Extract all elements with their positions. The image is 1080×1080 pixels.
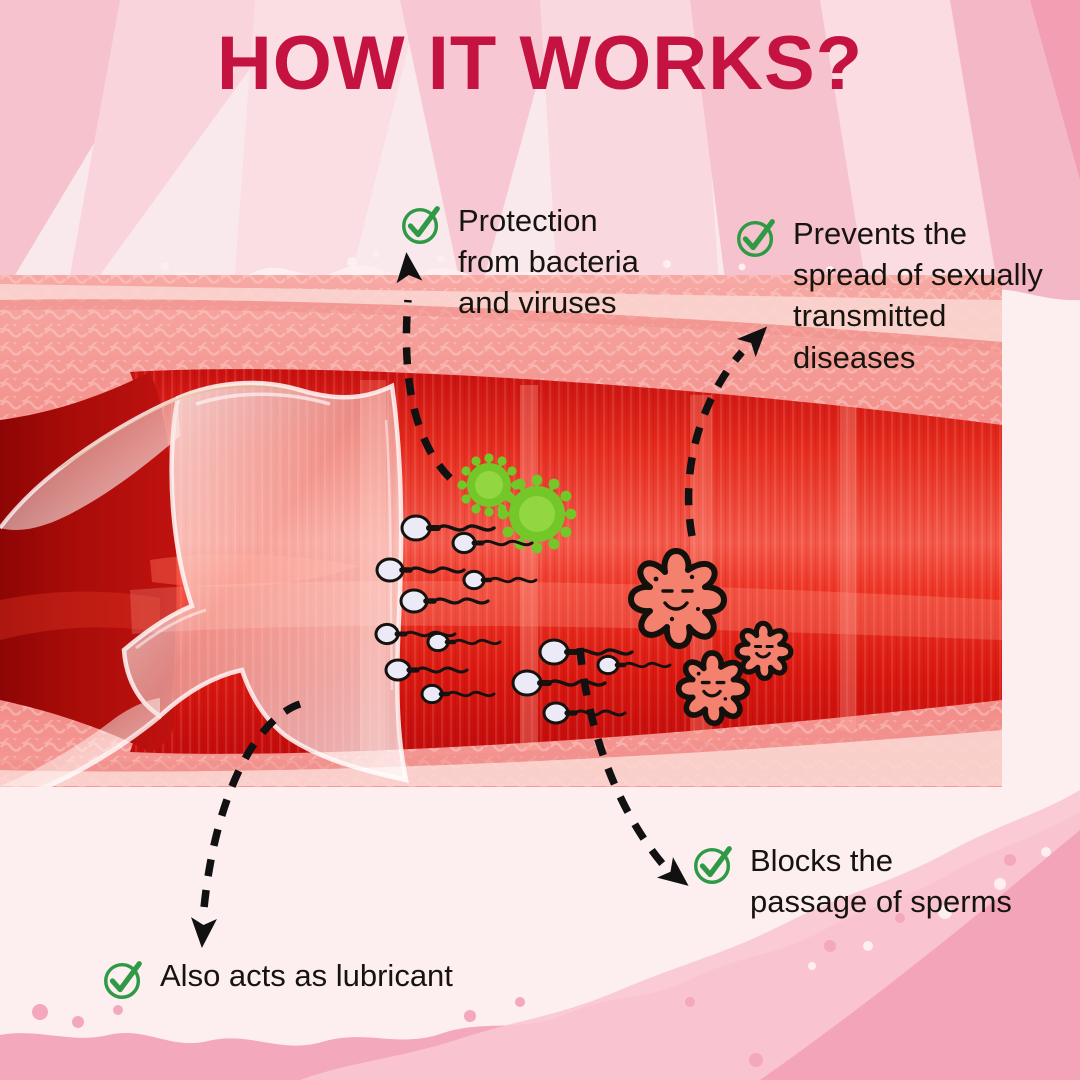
check-circle-icon xyxy=(733,215,779,261)
arrow-path-blocks xyxy=(580,648,666,868)
arrow-path-protection xyxy=(406,300,450,478)
check-circle-icon xyxy=(690,842,736,888)
check-circle-icon xyxy=(398,202,444,248)
arrow-head-lubricant xyxy=(189,917,217,949)
check-circle-icon xyxy=(100,957,146,1003)
callout-lubricant: Also acts as lubricant xyxy=(100,955,500,1003)
callout-blocks-text: Blocks the passage of sperms xyxy=(750,840,1050,922)
infographic-canvas: HOW IT WORKS? Protection from bacteria a… xyxy=(0,0,1080,1080)
callout-blocks: Blocks the passage of sperms xyxy=(690,840,1050,922)
callout-protection: Protection from bacteria and viruses xyxy=(398,200,698,324)
page-title: HOW IT WORKS? xyxy=(0,24,1080,104)
arrow-heads xyxy=(189,251,777,949)
callout-protection-text: Protection from bacteria and viruses xyxy=(458,200,698,324)
callout-lubricant-text: Also acts as lubricant xyxy=(160,955,500,996)
arrow-path-lubricant xyxy=(204,704,300,908)
callout-std: Prevents the spread of sexually transmit… xyxy=(733,213,1063,378)
arrow-path-std xyxy=(689,352,742,536)
callout-std-text: Prevents the spread of sexually transmit… xyxy=(793,213,1063,378)
